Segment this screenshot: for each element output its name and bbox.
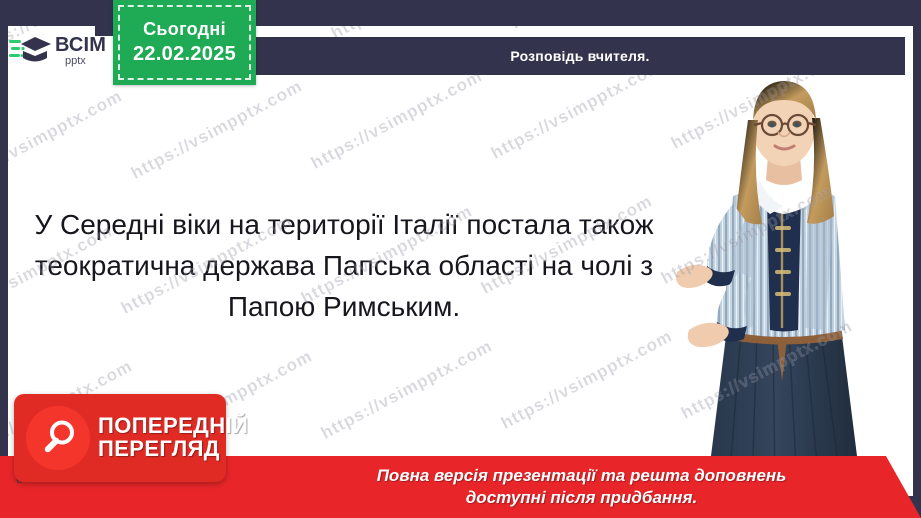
today-date: 22.02.2025 xyxy=(133,43,236,66)
logo-subtitle: pptx xyxy=(65,56,106,67)
watermark-text: https://vsimpptx.com xyxy=(8,86,126,193)
logo-wordmark: ВСІМ pptx xyxy=(55,35,106,67)
purchase-banner-text: Повна версія презентації та решта доповн… xyxy=(262,456,901,518)
preview-badge-line-2: ПЕРЕГЛЯД xyxy=(98,438,248,461)
watermark-text: https://vsimpptx.com xyxy=(498,326,676,433)
teacher-illustration xyxy=(655,76,913,496)
magnifier-icon xyxy=(26,406,90,470)
slide-preview-screenshot: https://vsimpptx.com https://vsimpptx.co… xyxy=(0,0,921,518)
preview-badge-line-1: ПОПЕРЕДНІЙ xyxy=(98,415,248,438)
purchase-banner-line-1: Повна версія презентації та решта доповн… xyxy=(377,466,787,486)
today-date-badge: Сьогодні 22.02.2025 xyxy=(113,0,256,85)
preview-badge-text: ПОПЕРЕДНІЙ ПЕРЕГЛЯД xyxy=(98,415,248,461)
watermark-text: https://vsimpptx.com xyxy=(318,336,496,443)
watermark-text: https://vsimpptx.com xyxy=(128,76,306,183)
purchase-banner-line-2: доступні після придбання. xyxy=(466,488,697,508)
slide-body-text: У Середні віки на території Італії поста… xyxy=(34,204,654,327)
brand-logo: ВСІМ pptx xyxy=(9,30,119,72)
watermark-text: https://vsimpptx.com xyxy=(308,66,486,173)
header-title: Розповідь вчителя. xyxy=(510,48,649,64)
header-bar: Розповідь вчителя. xyxy=(255,37,905,75)
graduation-cap-icon xyxy=(9,34,51,68)
watermark-text: https://vsimpptx.com xyxy=(508,26,686,34)
preview-badge[interactable]: ПОПЕРЕДНІЙ ПЕРЕГЛЯД xyxy=(14,394,226,482)
today-label: Сьогодні xyxy=(143,19,226,40)
logo-title: ВСІМ xyxy=(55,35,106,55)
